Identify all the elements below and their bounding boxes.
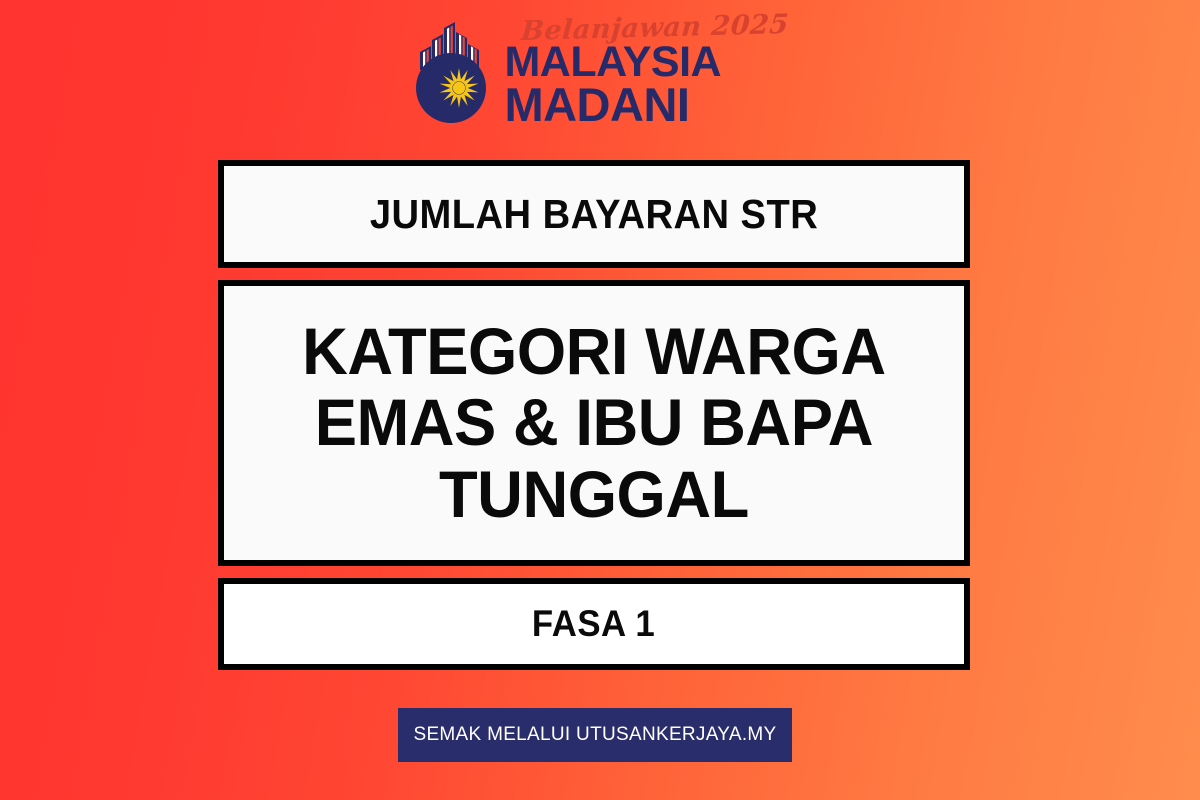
category-box: KATEGORI WARGA EMAS & IBU BAPA TUNGGAL — [218, 280, 970, 566]
logo-wordmark: Belanjawan 2025 MALAYSIA MADANI — [504, 18, 787, 128]
malaysia-madani-emblem-icon — [412, 18, 498, 128]
logo-header: Belanjawan 2025 MALAYSIA MADANI — [0, 18, 1200, 136]
logo-brand-line-2: MADANI — [504, 83, 787, 126]
title-box: JUMLAH BAYARAN STR — [218, 160, 970, 268]
phase-text: FASA 1 — [532, 603, 655, 645]
malaysia-madani-logo: Belanjawan 2025 MALAYSIA MADANI — [412, 18, 787, 128]
category-line-1: KATEGORI WARGA — [302, 316, 885, 387]
phase-box: FASA 1 — [218, 578, 970, 670]
category-line-2: EMAS & IBU BAPA — [302, 387, 885, 458]
category-line-3: TUNGGAL — [302, 459, 885, 530]
source-banner[interactable]: SEMAK MELALUI UTUSANKERJAYA.MY — [398, 708, 792, 762]
source-banner-label: SEMAK MELALUI UTUSANKERJAYA.MY — [413, 724, 776, 746]
category-text: KATEGORI WARGA EMAS & IBU BAPA TUNGGAL — [302, 316, 885, 530]
poster-box-stack: JUMLAH BAYARAN STR KATEGORI WARGA EMAS &… — [218, 160, 970, 670]
title-text: JUMLAH BAYARAN STR — [370, 191, 818, 238]
